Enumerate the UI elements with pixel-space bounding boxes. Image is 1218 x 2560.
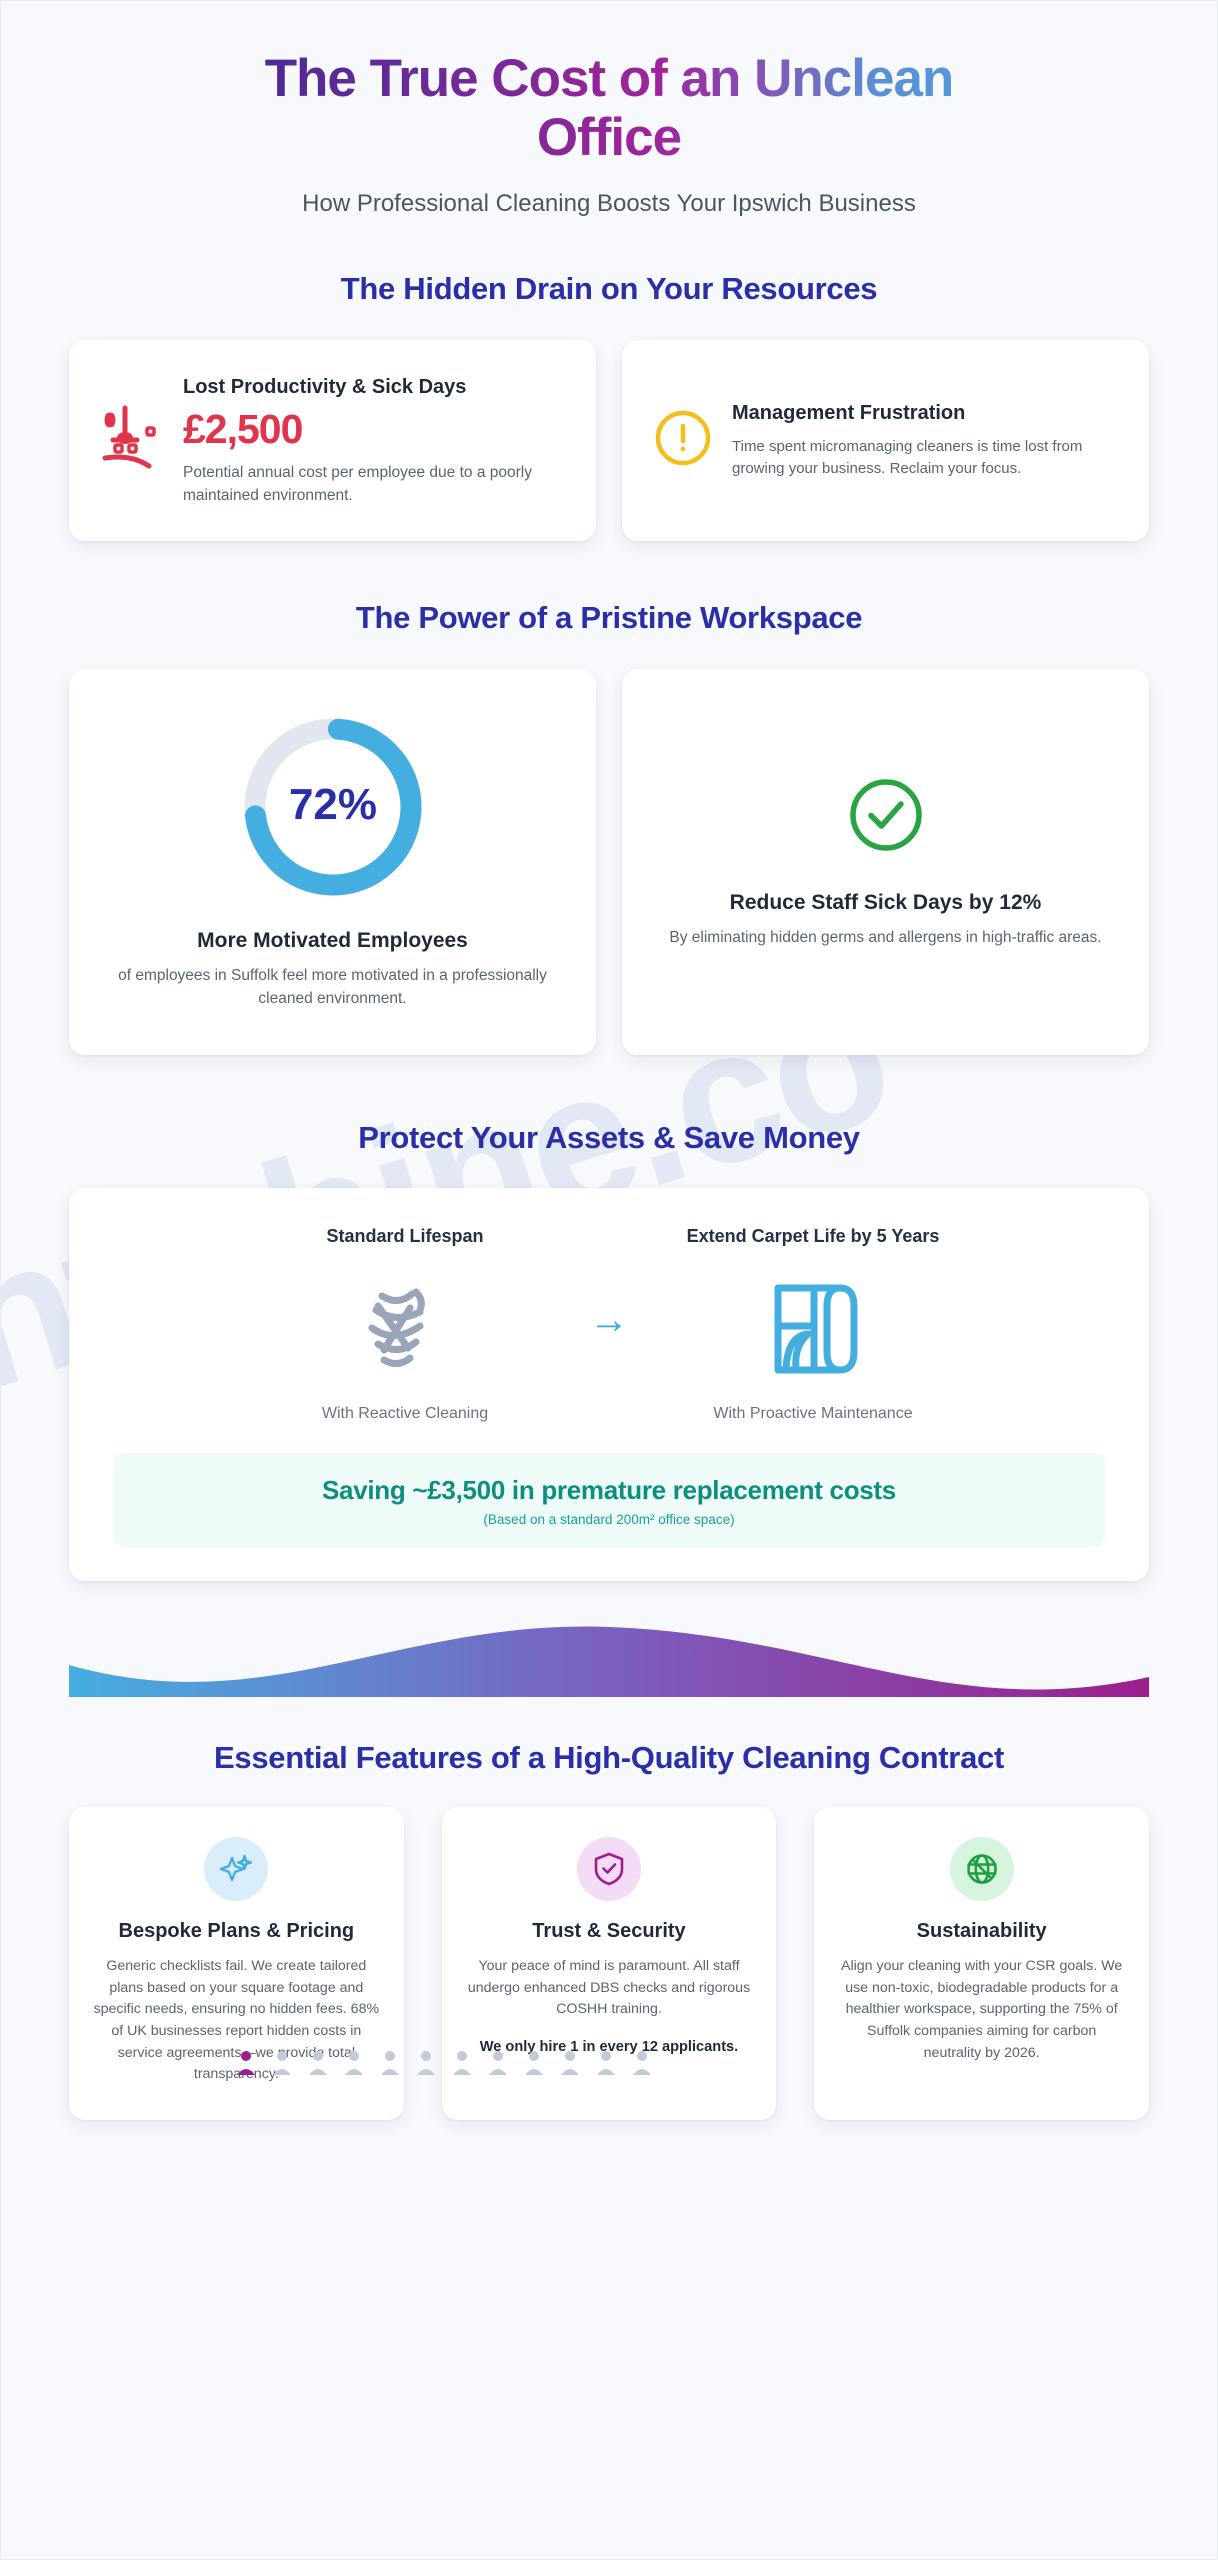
section-heading-features: Essential Features of a High-Quality Cle… bbox=[1, 1739, 1217, 1777]
infographic-page: ht shine.co The True Cost of an Unclean … bbox=[0, 0, 1218, 2560]
feature-title: Trust & Security bbox=[466, 1919, 753, 1944]
feature-card-sustainability: Sustainability Align your cleaning with … bbox=[814, 1807, 1149, 2119]
alert-circle-icon bbox=[652, 407, 714, 474]
lifespan-extended-footer: With Proactive Maintenance bbox=[663, 1405, 963, 1423]
feature-description: Generic checklists fail. We create tailo… bbox=[93, 1956, 380, 2085]
page-title-line1: The True Cost of an Unclean bbox=[265, 49, 954, 108]
savings-note: (Based on a standard 200m² office space) bbox=[133, 1512, 1085, 1527]
page-title: The True Cost of an Unclean Office bbox=[91, 49, 1127, 168]
card-title: Reduce Staff Sick Days by 12% bbox=[730, 889, 1042, 916]
carpet-roll-icon bbox=[663, 1269, 963, 1389]
feature-title: Bespoke Plans & Pricing bbox=[93, 1919, 380, 1944]
power-card-row: 72% More Motivated Employees of employee… bbox=[1, 669, 1217, 1055]
card-description: of employees in Suffolk feel more motiva… bbox=[103, 964, 562, 1011]
features-card-row: Bespoke Plans & Pricing Generic checklis… bbox=[1, 1807, 1217, 2119]
savings-headline: Saving ~£3,500 in premature replacement … bbox=[133, 1475, 1085, 1506]
card-title: More Motivated Employees bbox=[103, 927, 562, 954]
donut-percent-label: 72% bbox=[288, 780, 376, 829]
features-heading-line1: Essential Features of a High-Quality Cle… bbox=[214, 1740, 871, 1775]
sparkles-icon bbox=[204, 1837, 268, 1901]
feature-description: Your peace of mind is paramount. All sta… bbox=[466, 1956, 753, 2021]
card-title: Lost Productivity & Sick Days bbox=[183, 374, 566, 400]
donut-chart: 72% bbox=[103, 709, 562, 905]
card-lost-productivity-body: Lost Productivity & Sick Days £2,500 Pot… bbox=[183, 374, 566, 508]
lifespan-extended: Extend Carpet Life by 5 Years With Proac… bbox=[663, 1226, 963, 1423]
drain-card-row: Lost Productivity & Sick Days £2,500 Pot… bbox=[1, 340, 1217, 542]
person-icon bbox=[417, 2050, 435, 2076]
page-subtitle: How Professional Cleaning Boosts Your Ip… bbox=[91, 190, 1127, 218]
card-description: Time spent micromanaging cleaners is tim… bbox=[732, 436, 1119, 481]
feature-emphasis: We only hire 1 in every 12 applicants. bbox=[466, 2037, 753, 2059]
card-lost-productivity: Lost Productivity & Sick Days £2,500 Pot… bbox=[69, 340, 596, 542]
card-reduce-sick-days: Reduce Staff Sick Days by 12% By elimina… bbox=[622, 669, 1149, 1055]
card-management-frustration: Management Frustration Time spent microm… bbox=[622, 340, 1149, 542]
card-description: By eliminating hidden germs and allergen… bbox=[669, 926, 1101, 949]
card-motivated-employees: 72% More Motivated Employees of employee… bbox=[69, 669, 596, 1055]
features-heading-line2: Contract bbox=[879, 1740, 1004, 1775]
shield-check-icon bbox=[577, 1837, 641, 1901]
section-heading-assets: Protect Your Assets & Save Money bbox=[1, 1119, 1217, 1157]
feature-description: Align your cleaning with your CSR goals.… bbox=[838, 1956, 1125, 2064]
check-circle-icon bbox=[845, 774, 927, 861]
infographic-content: The True Cost of an Unclean Office How P… bbox=[1, 1, 1217, 2120]
card-stat-value: £2,500 bbox=[183, 406, 566, 453]
feature-card-bespoke-plans: Bespoke Plans & Pricing Generic checklis… bbox=[69, 1807, 404, 2119]
lifespan-comparison: Standard Lifespan With bbox=[113, 1226, 1105, 1423]
wave-divider bbox=[69, 1625, 1149, 1697]
page-title-line2: Office bbox=[537, 108, 681, 167]
card-title: Management Frustration bbox=[732, 400, 1119, 426]
lifespan-extended-title: Extend Carpet Life by 5 Years bbox=[663, 1226, 963, 1247]
lifespan-standard-title: Standard Lifespan bbox=[255, 1226, 555, 1247]
feature-title: Sustainability bbox=[838, 1919, 1125, 1944]
hero-section: The True Cost of an Unclean Office How P… bbox=[1, 1, 1217, 218]
lifespan-standard-footer: With Reactive Cleaning bbox=[255, 1405, 555, 1423]
card-management-frustration-body: Management Frustration Time spent microm… bbox=[732, 400, 1119, 481]
globe-leaf-icon bbox=[950, 1837, 1014, 1901]
card-description: Potential annual cost per employee due t… bbox=[183, 461, 566, 508]
worn-carpet-icon bbox=[255, 1269, 555, 1389]
section-heading-drain: The Hidden Drain on Your Resources bbox=[1, 270, 1217, 308]
savings-banner: Saving ~£3,500 in premature replacement … bbox=[113, 1453, 1105, 1547]
lifespan-standard: Standard Lifespan With bbox=[255, 1226, 555, 1423]
feature-card-trust-security: Trust & Security Your peace of mind is p… bbox=[442, 1807, 777, 2119]
mop-bucket-icon bbox=[99, 400, 165, 481]
arrow-right-icon: → bbox=[589, 1300, 629, 1350]
section-heading-power: The Power of a Pristine Workspace bbox=[1, 599, 1217, 637]
card-asset-lifespan: Standard Lifespan With bbox=[69, 1188, 1149, 1581]
